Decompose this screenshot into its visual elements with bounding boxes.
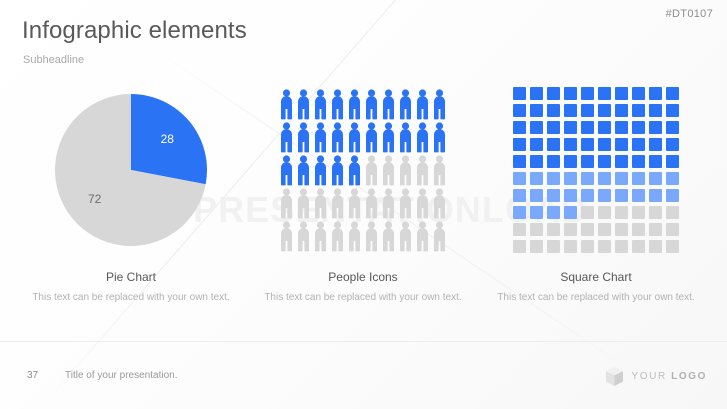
square-cell-empty[interactable] bbox=[564, 223, 577, 236]
square-cell-empty[interactable] bbox=[513, 240, 526, 253]
square-cell-dark[interactable] bbox=[581, 155, 594, 168]
square-cell-dark[interactable] bbox=[598, 121, 611, 134]
document-code: #DT0107 bbox=[666, 8, 713, 20]
square-cell-empty[interactable] bbox=[666, 206, 679, 219]
person-icon[interactable] bbox=[380, 122, 397, 153]
person-icon[interactable] bbox=[346, 89, 363, 120]
square-cell-dark[interactable] bbox=[615, 155, 628, 168]
square-cell-dark[interactable] bbox=[649, 87, 662, 100]
square-cell-light[interactable] bbox=[530, 172, 543, 185]
person-icon[interactable] bbox=[363, 122, 380, 153]
square-cell-light[interactable] bbox=[581, 189, 594, 202]
logo-text: YOUR LOGO bbox=[631, 371, 707, 382]
panel-description-people-icons: This text can be replaced with your own … bbox=[248, 291, 478, 305]
square-cell-dark[interactable] bbox=[632, 87, 645, 100]
person-icon[interactable] bbox=[363, 221, 380, 252]
square-cell-dark[interactable] bbox=[513, 155, 526, 168]
square-cell-light[interactable] bbox=[547, 172, 560, 185]
square-cell-empty[interactable] bbox=[666, 240, 679, 253]
person-icon[interactable] bbox=[363, 188, 380, 219]
square-cell-empty[interactable] bbox=[513, 223, 526, 236]
person-icon[interactable] bbox=[380, 89, 397, 120]
square-chart-figure[interactable] bbox=[481, 84, 711, 256]
square-cell-dark[interactable] bbox=[513, 121, 526, 134]
square-cell-empty[interactable] bbox=[530, 240, 543, 253]
person-icon[interactable] bbox=[414, 188, 431, 219]
person-icon[interactable] bbox=[397, 221, 414, 252]
square-cell-empty[interactable] bbox=[547, 240, 560, 253]
square-cell-dark[interactable] bbox=[598, 87, 611, 100]
square-cell-light[interactable] bbox=[598, 189, 611, 202]
square-cell-dark[interactable] bbox=[530, 87, 543, 100]
panel-people-icons: People Icons This text can be replaced w… bbox=[248, 84, 478, 305]
square-cell-empty[interactable] bbox=[598, 240, 611, 253]
square-cell-dark[interactable] bbox=[615, 138, 628, 151]
square-cell-dark[interactable] bbox=[649, 121, 662, 134]
panel-description-square-chart: This text can be replaced with your own … bbox=[481, 291, 711, 305]
square-cell-empty[interactable] bbox=[581, 223, 594, 236]
square-cell-light[interactable] bbox=[513, 189, 526, 202]
square-cell-dark[interactable] bbox=[632, 121, 645, 134]
square-cell-light[interactable] bbox=[530, 189, 543, 202]
square-cell-dark[interactable] bbox=[564, 138, 577, 151]
square-cell-dark[interactable] bbox=[666, 121, 679, 134]
square-cell-dark[interactable] bbox=[547, 155, 560, 168]
logo[interactable]: YOUR LOGO bbox=[606, 367, 707, 386]
person-icon[interactable] bbox=[329, 89, 346, 120]
square-cell-dark[interactable] bbox=[564, 87, 577, 100]
square-cell-empty[interactable] bbox=[564, 240, 577, 253]
square-cell-dark[interactable] bbox=[666, 104, 679, 117]
square-cell-empty[interactable] bbox=[615, 206, 628, 219]
person-icon[interactable] bbox=[312, 122, 329, 153]
people-icons-figure[interactable] bbox=[248, 84, 478, 256]
square-cell-empty[interactable] bbox=[598, 206, 611, 219]
square-cell-dark[interactable] bbox=[615, 104, 628, 117]
panel-title-people-icons: People Icons bbox=[248, 270, 478, 284]
square-cell-dark[interactable] bbox=[649, 104, 662, 117]
square-cell-light[interactable] bbox=[513, 172, 526, 185]
square-cell-dark[interactable] bbox=[513, 138, 526, 151]
square-cell-empty[interactable] bbox=[632, 206, 645, 219]
square-cell-dark[interactable] bbox=[598, 155, 611, 168]
square-cell-empty[interactable] bbox=[649, 223, 662, 236]
person-icon[interactable] bbox=[278, 122, 295, 153]
square-cell-dark[interactable] bbox=[513, 104, 526, 117]
square-cell-dark[interactable] bbox=[632, 155, 645, 168]
person-icon[interactable] bbox=[295, 221, 312, 252]
square-cell-light[interactable] bbox=[615, 172, 628, 185]
square-chart-grid[interactable] bbox=[513, 87, 679, 253]
person-icon[interactable] bbox=[414, 122, 431, 153]
square-cell-dark[interactable] bbox=[530, 155, 543, 168]
square-cell-dark[interactable] bbox=[666, 87, 679, 100]
person-icon[interactable] bbox=[278, 89, 295, 120]
square-cell-light[interactable] bbox=[632, 189, 645, 202]
square-cell-light[interactable] bbox=[649, 172, 662, 185]
square-cell-dark[interactable] bbox=[547, 104, 560, 117]
person-icon[interactable] bbox=[431, 155, 448, 186]
square-cell-light[interactable] bbox=[547, 189, 560, 202]
person-icon[interactable] bbox=[312, 188, 329, 219]
square-cell-dark[interactable] bbox=[615, 121, 628, 134]
square-cell-dark[interactable] bbox=[564, 155, 577, 168]
square-cell-light[interactable] bbox=[547, 206, 560, 219]
square-cell-light[interactable] bbox=[564, 206, 577, 219]
person-icon[interactable] bbox=[346, 221, 363, 252]
panel-title-pie-chart: Pie Chart bbox=[16, 270, 246, 284]
pie-chart-svg[interactable]: 28 72 bbox=[52, 91, 210, 249]
square-cell-empty[interactable] bbox=[649, 240, 662, 253]
person-icon[interactable] bbox=[346, 155, 363, 186]
square-cell-light[interactable] bbox=[615, 189, 628, 202]
square-cell-empty[interactable] bbox=[615, 240, 628, 253]
person-icon[interactable] bbox=[380, 188, 397, 219]
slide-canvas: PRESENTATIONLOAD Infographic elements Su… bbox=[0, 0, 727, 409]
square-cell-dark[interactable] bbox=[632, 104, 645, 117]
subheadline: Subheadline bbox=[23, 54, 84, 66]
page-title: Infographic elements bbox=[22, 17, 247, 45]
square-cell-dark[interactable] bbox=[598, 138, 611, 151]
person-icon[interactable] bbox=[329, 221, 346, 252]
square-cell-dark[interactable] bbox=[547, 87, 560, 100]
square-cell-empty[interactable] bbox=[547, 223, 560, 236]
person-icon[interactable] bbox=[329, 122, 346, 153]
person-icon[interactable] bbox=[431, 122, 448, 153]
panel-title-square-chart: Square Chart bbox=[481, 270, 711, 284]
logo-word-logo: LOGO bbox=[671, 371, 707, 382]
square-cell-dark[interactable] bbox=[598, 104, 611, 117]
person-icon[interactable] bbox=[346, 188, 363, 219]
person-icon[interactable] bbox=[329, 155, 346, 186]
square-cell-dark[interactable] bbox=[581, 121, 594, 134]
square-cell-light[interactable] bbox=[581, 172, 594, 185]
person-icon[interactable] bbox=[397, 122, 414, 153]
square-cell-dark[interactable] bbox=[581, 104, 594, 117]
person-icon[interactable] bbox=[295, 155, 312, 186]
person-icon[interactable] bbox=[295, 89, 312, 120]
square-cell-empty[interactable] bbox=[598, 223, 611, 236]
person-icon[interactable] bbox=[346, 122, 363, 153]
square-cell-dark[interactable] bbox=[666, 155, 679, 168]
pie-chart-figure[interactable]: 28 72 bbox=[16, 84, 246, 256]
person-icon[interactable] bbox=[380, 221, 397, 252]
logo-word-your: YOUR bbox=[631, 371, 666, 382]
square-cell-empty[interactable] bbox=[615, 223, 628, 236]
square-cell-dark[interactable] bbox=[513, 87, 526, 100]
person-icon[interactable] bbox=[295, 188, 312, 219]
square-cell-light[interactable] bbox=[564, 189, 577, 202]
square-cell-empty[interactable] bbox=[632, 223, 645, 236]
people-icon-grid[interactable] bbox=[278, 89, 448, 252]
person-icon[interactable] bbox=[278, 188, 295, 219]
square-cell-dark[interactable] bbox=[649, 155, 662, 168]
person-icon[interactable] bbox=[414, 155, 431, 186]
square-cell-empty[interactable] bbox=[632, 240, 645, 253]
square-cell-empty[interactable] bbox=[530, 223, 543, 236]
footer-page-number: 37 bbox=[27, 370, 38, 381]
panel-description-pie-chart: This text can be replaced with your own … bbox=[16, 291, 246, 305]
square-cell-dark[interactable] bbox=[564, 104, 577, 117]
person-icon[interactable] bbox=[397, 188, 414, 219]
person-icon[interactable] bbox=[278, 221, 295, 252]
person-icon[interactable] bbox=[414, 221, 431, 252]
footer-presentation-title: Title of your presentation. bbox=[65, 370, 177, 381]
square-cell-empty[interactable] bbox=[666, 223, 679, 236]
person-icon[interactable] bbox=[312, 89, 329, 120]
footer-divider bbox=[0, 341, 727, 342]
square-cell-dark[interactable] bbox=[547, 121, 560, 134]
person-icon[interactable] bbox=[363, 89, 380, 120]
pie-slice-label-1: 72 bbox=[88, 192, 102, 206]
pie-slice-label-0: 28 bbox=[161, 132, 175, 146]
person-icon[interactable] bbox=[414, 89, 431, 120]
square-cell-dark[interactable] bbox=[564, 121, 577, 134]
person-icon[interactable] bbox=[397, 89, 414, 120]
person-icon[interactable] bbox=[312, 155, 329, 186]
person-icon[interactable] bbox=[278, 155, 295, 186]
square-cell-dark[interactable] bbox=[632, 138, 645, 151]
square-cell-light[interactable] bbox=[564, 172, 577, 185]
person-icon[interactable] bbox=[431, 221, 448, 252]
square-cell-light[interactable] bbox=[530, 206, 543, 219]
square-cell-dark[interactable] bbox=[581, 87, 594, 100]
square-cell-light[interactable] bbox=[666, 189, 679, 202]
square-cell-light[interactable] bbox=[666, 172, 679, 185]
person-icon[interactable] bbox=[431, 188, 448, 219]
person-icon[interactable] bbox=[363, 155, 380, 186]
square-cell-dark[interactable] bbox=[666, 138, 679, 151]
person-icon[interactable] bbox=[295, 122, 312, 153]
square-cell-empty[interactable] bbox=[581, 206, 594, 219]
person-icon[interactable] bbox=[380, 155, 397, 186]
square-cell-dark[interactable] bbox=[581, 138, 594, 151]
person-icon[interactable] bbox=[431, 89, 448, 120]
square-cell-light[interactable] bbox=[632, 172, 645, 185]
square-cell-dark[interactable] bbox=[547, 138, 560, 151]
square-cell-dark[interactable] bbox=[530, 138, 543, 151]
square-cell-light[interactable] bbox=[598, 172, 611, 185]
square-cell-empty[interactable] bbox=[581, 240, 594, 253]
square-cell-dark[interactable] bbox=[530, 121, 543, 134]
person-icon[interactable] bbox=[329, 188, 346, 219]
panel-square-chart: Square Chart This text can be replaced w… bbox=[481, 84, 711, 305]
square-cell-dark[interactable] bbox=[530, 104, 543, 117]
person-icon[interactable] bbox=[397, 155, 414, 186]
square-cell-dark[interactable] bbox=[615, 87, 628, 100]
square-cell-empty[interactable] bbox=[649, 206, 662, 219]
person-icon[interactable] bbox=[312, 221, 329, 252]
panel-pie-chart: 28 72 Pie Chart This text can be replace… bbox=[16, 84, 246, 305]
square-cell-light[interactable] bbox=[649, 189, 662, 202]
cube-icon bbox=[606, 367, 623, 386]
square-cell-dark[interactable] bbox=[649, 138, 662, 151]
square-cell-light[interactable] bbox=[513, 206, 526, 219]
